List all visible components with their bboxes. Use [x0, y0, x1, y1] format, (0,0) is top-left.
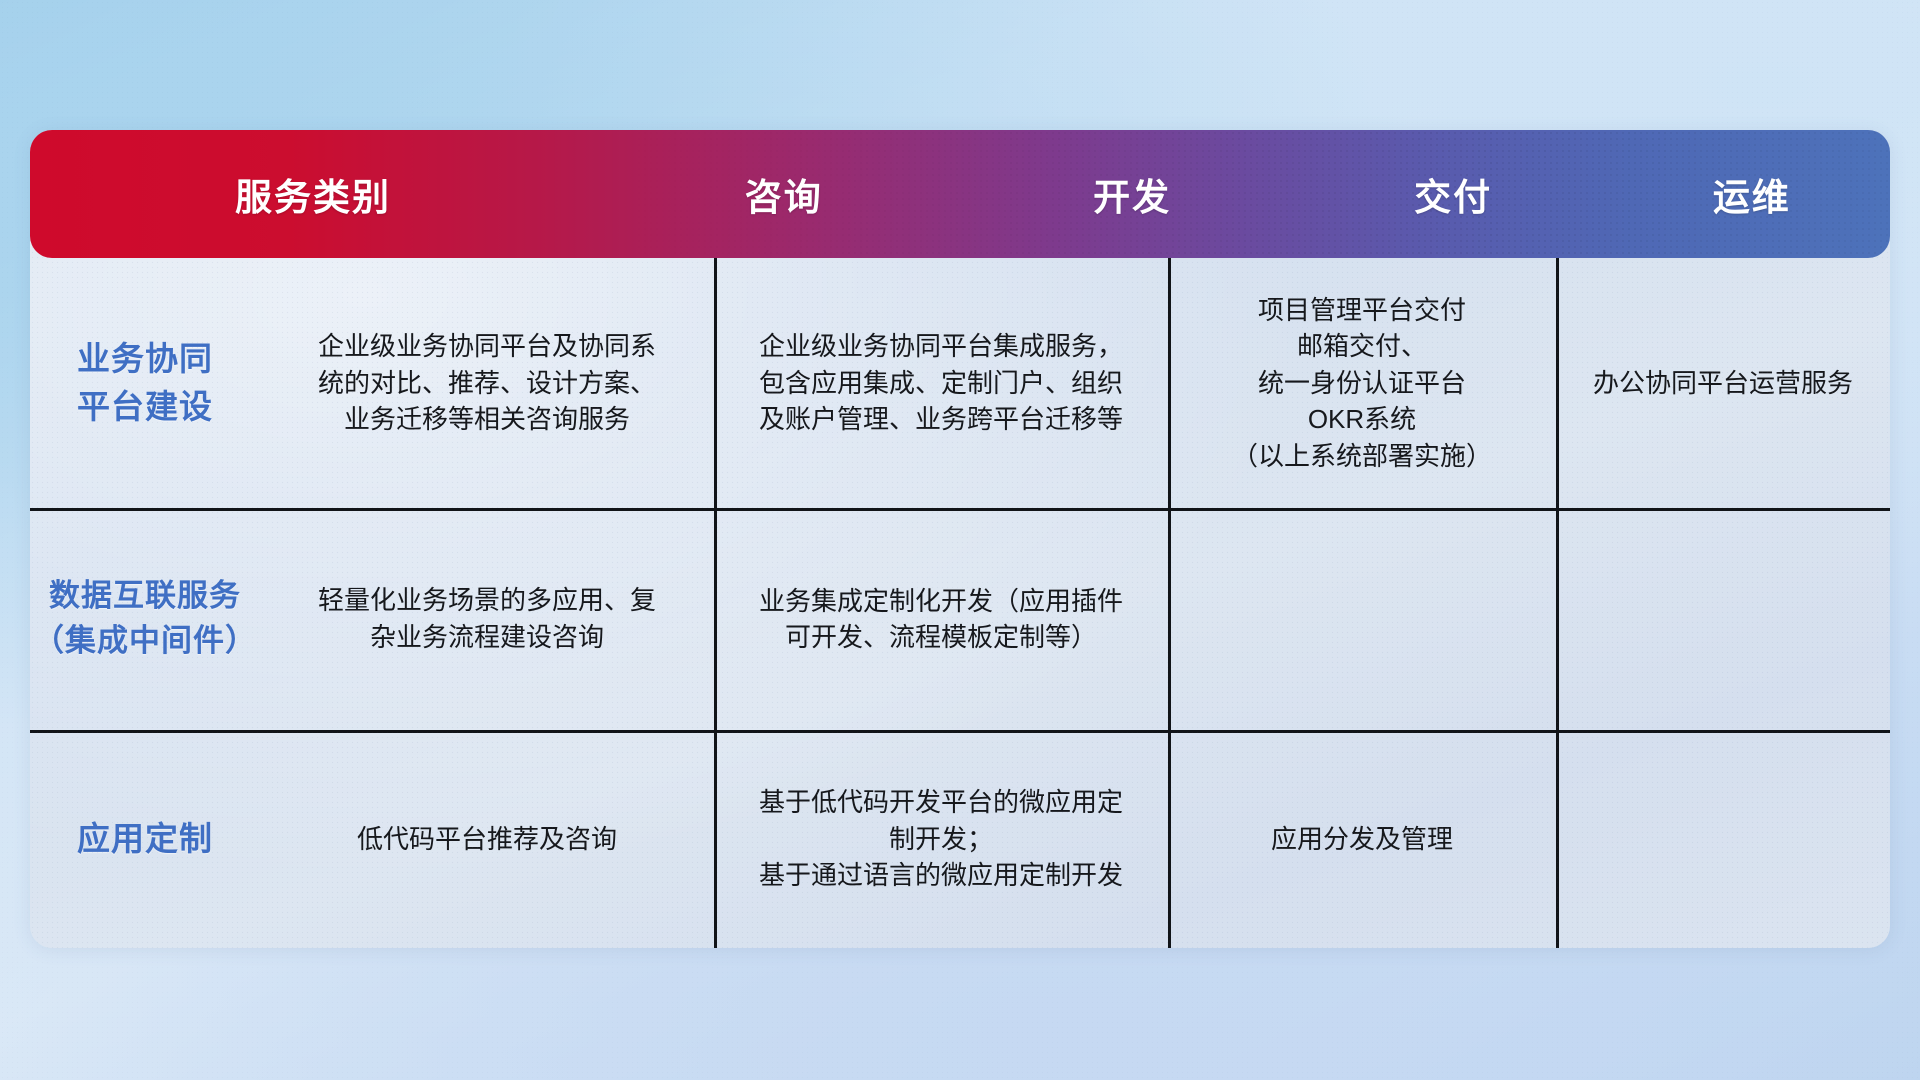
table-body: 业务协同 平台建设 企业级业务协同平台及协同系 统的对比、推荐、设计方案、 业务… [30, 258, 1890, 948]
header-development[interactable]: 开发 [972, 130, 1293, 258]
cell-delivery: 应用分发及管理 [1168, 730, 1556, 948]
row-category-label: 应用定制 [30, 730, 260, 948]
header-operations[interactable]: 运维 [1614, 130, 1890, 258]
cell-consulting: 低代码平台推荐及咨询 [260, 730, 714, 948]
table-row[interactable]: 业务协同 平台建设 企业级业务协同平台及协同系 统的对比、推荐、设计方案、 业务… [30, 258, 1890, 508]
cell-operations [1556, 730, 1890, 948]
cell-development: 企业级业务协同平台集成服务， 包含应用集成、定制门户、组织 及账户管理、业务跨平… [714, 258, 1168, 508]
cell-consulting: 轻量化业务场景的多应用、复 杂业务流程建设咨询 [260, 508, 714, 730]
slide-canvas: 业务协同 平台建设 企业级业务协同平台及协同系 统的对比、推荐、设计方案、 业务… [0, 0, 1920, 1080]
cell-delivery: 项目管理平台交付 邮箱交付、 统一身份认证平台 OKR系统 （以上系统部署实施） [1168, 258, 1556, 508]
table-header: 服务类别 咨询 开发 交付 运维 [30, 130, 1890, 258]
table-row[interactable]: 数据互联服务 （集成中间件） 轻量化业务场景的多应用、复 杂业务流程建设咨询 业… [30, 508, 1890, 730]
cell-consulting: 企业级业务协同平台及协同系 统的对比、推荐、设计方案、 业务迁移等相关咨询服务 [260, 258, 714, 508]
header-service-category[interactable]: 服务类别 [30, 130, 596, 258]
cell-development: 基于低代码开发平台的微应用定 制开发； 基于通过语言的微应用定制开发 [714, 730, 1168, 948]
cell-development: 业务集成定制化开发（应用插件 可开发、流程模板定制等） [714, 508, 1168, 730]
row-category-label: 业务协同 平台建设 [30, 258, 260, 508]
cell-operations [1556, 508, 1890, 730]
header-consulting[interactable]: 咨询 [596, 130, 972, 258]
table-row[interactable]: 应用定制 低代码平台推荐及咨询 基于低代码开发平台的微应用定 制开发； 基于通过… [30, 730, 1890, 948]
cell-operations: 办公协同平台运营服务 [1556, 258, 1890, 508]
row-category-label: 数据互联服务 （集成中间件） [30, 508, 260, 730]
cell-delivery [1168, 508, 1556, 730]
header-delivery[interactable]: 交付 [1293, 130, 1614, 258]
